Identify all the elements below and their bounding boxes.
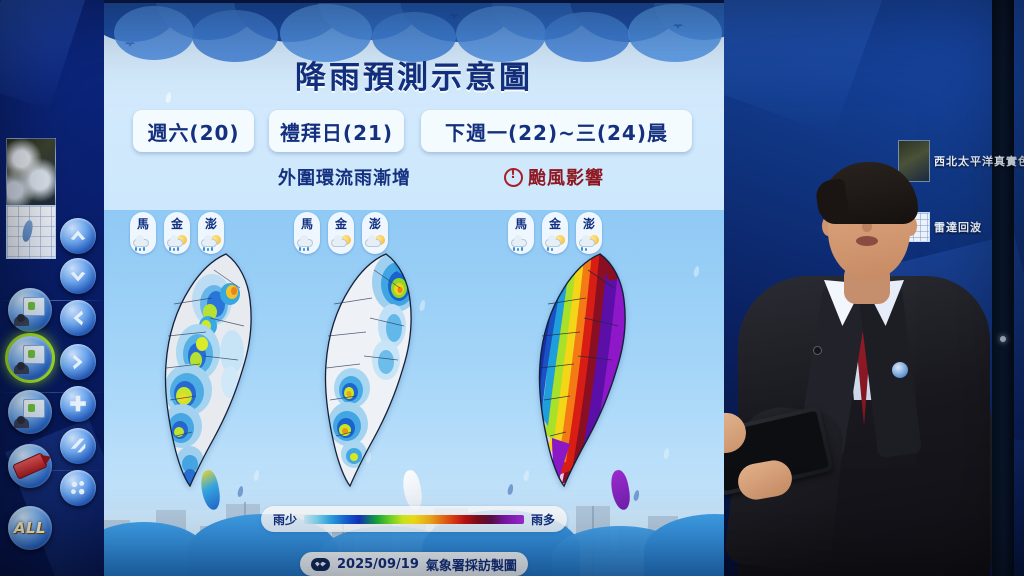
warning-circle-icon — [504, 168, 523, 187]
previous-button[interactable] — [60, 300, 96, 336]
island-label: 澎 — [362, 215, 388, 232]
day-chip[interactable]: 禮拜日(21) — [269, 110, 404, 152]
rainfall-legend: 雨少 雨多 — [261, 506, 567, 532]
island-label: 金 — [328, 215, 354, 232]
island-label: 馬 — [508, 215, 534, 232]
presenter — [732, 56, 1000, 576]
presenter-board-icon — [14, 345, 46, 371]
island-label: 金 — [164, 215, 190, 232]
day-chip[interactable]: 下週一(22)~三(24)晨 — [421, 110, 692, 152]
presenter-hair — [820, 162, 918, 224]
all-button-label: ALL — [14, 519, 46, 537]
weather-graphic-panel: 降雨預測示意圖 週六(20) 禮拜日(21) 下週一(22)~三(24)晨 外圍… — [104, 0, 724, 576]
broadcast-screenshot: ALL — [0, 0, 1024, 576]
grid-button[interactable] — [60, 470, 96, 506]
left-control-rail: ALL — [0, 0, 104, 576]
subtitle-typhoon-label: 颱風影響 — [528, 164, 604, 190]
layers-button[interactable] — [60, 428, 96, 464]
radar-thumbnail[interactable] — [6, 205, 56, 259]
day-chip-group: 週六(20) 禮拜日(21) 下週一(22)~三(24)晨 — [104, 110, 724, 152]
rainfall-map-saturday[interactable] — [140, 248, 290, 498]
presenter-pointing-hand — [724, 412, 746, 456]
scene-1-button[interactable] — [8, 288, 52, 332]
bird-icon — [124, 42, 136, 49]
marker-button[interactable] — [8, 444, 52, 488]
legend-colorbar — [304, 515, 524, 524]
legend-low-label: 雨少 — [273, 511, 297, 528]
island-label: 馬 — [130, 215, 156, 232]
island-label: 馬 — [294, 215, 320, 232]
credit-source: 氣象署採訪製圖 — [426, 555, 517, 574]
graphic-top-edge — [104, 0, 724, 3]
chevron-up-icon — [67, 225, 89, 247]
island-label: 金 — [542, 215, 568, 232]
wall-light-icon — [1000, 336, 1006, 342]
satellite-thumbnail[interactable] — [6, 138, 56, 206]
chevron-left-icon — [67, 307, 89, 329]
agency-logo-icon — [311, 558, 330, 571]
scene-2-button[interactable] — [8, 336, 52, 380]
bird-icon — [448, 14, 460, 21]
subtitle-typhoon-impact: 颱風影響 — [504, 164, 604, 190]
island-label: 澎 — [198, 215, 224, 232]
scene-3-button[interactable] — [8, 390, 52, 434]
all-button[interactable]: ALL — [8, 506, 52, 550]
presenter-lapel-pin — [892, 362, 908, 378]
chevron-down-icon — [67, 265, 89, 287]
plus-icon — [67, 393, 89, 415]
studio-right-area: 西北太平洋真實色 雷達回波 1 — [724, 0, 1024, 576]
rainfall-map-sunday[interactable] — [300, 248, 450, 498]
presenter-board-icon — [14, 399, 46, 425]
page-title: 降雨預測示意圖 — [104, 52, 724, 97]
subtitle-outer-circulation: 外圍環流雨漸增 — [278, 164, 411, 190]
stripes-icon — [67, 435, 89, 457]
next-button[interactable] — [60, 344, 96, 380]
scroll-down-button[interactable] — [60, 258, 96, 294]
marker-pen-icon — [12, 452, 48, 480]
add-button[interactable] — [60, 386, 96, 422]
subtitle-group: 外圍環流雨漸增 颱風影響 — [104, 164, 724, 190]
bird-icon — [672, 24, 684, 31]
dots-icon — [67, 477, 89, 499]
day-chip[interactable]: 週六(20) — [133, 110, 254, 152]
credit-bar: 2025/09/19 氣象署採訪製圖 — [300, 552, 528, 576]
presenter-board-icon — [14, 297, 46, 323]
credit-date: 2025/09/19 — [337, 557, 419, 572]
scroll-up-button[interactable] — [60, 218, 96, 254]
rainfall-map-mon-wed[interactable] — [508, 248, 668, 498]
chevron-right-icon — [67, 351, 89, 373]
legend-high-label: 雨多 — [531, 511, 555, 528]
island-label: 澎 — [576, 215, 602, 232]
presenter-mouth — [856, 236, 878, 246]
lapel-microphone-icon — [814, 347, 821, 354]
